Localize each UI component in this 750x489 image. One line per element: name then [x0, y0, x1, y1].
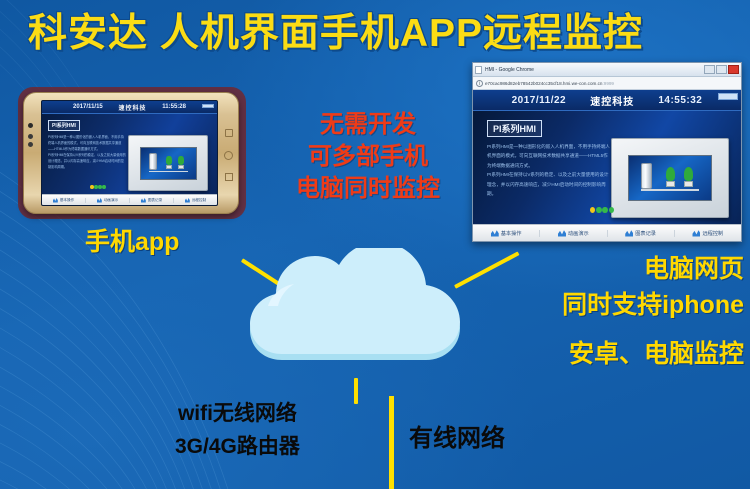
maximize-button-icon[interactable]: [716, 65, 727, 74]
signal-icon: [692, 230, 700, 237]
wired-network-label: 有线网络: [409, 418, 505, 453]
hmi-paragraph-2: PI系列HMI在保持以V系列的稳定、以及之前大量使用的设计理念，并以闪存高速响应…: [487, 170, 612, 198]
hmi-status-dots: [90, 185, 106, 189]
nav-item-chart-record[interactable]: 图表记录: [608, 230, 675, 237]
computer-caption-block: 电脑网页 同时支持iphone 安卓、电脑监控: [562, 252, 744, 373]
plant-icon: [666, 167, 675, 181]
hmi-panel-title: PI系列HMI: [48, 120, 80, 131]
status-dot: [102, 185, 106, 189]
browser-address-bar[interactable]: i e70cac986d82eb78542b024cc35cf18.hmi.we…: [473, 77, 741, 90]
nav-label: 图表记录: [148, 198, 162, 203]
status-dot: [90, 185, 94, 189]
poster-title: 科安达 人机界面手机APP远程监控: [28, 14, 643, 55]
highlight-line-2: 可多部手机: [296, 141, 440, 173]
computer-caption-line-1: 电脑网页: [562, 252, 744, 288]
phone-screen: 2017/11/15 速控科技 11:55:28 PI系列HMI PI系列HMI…: [41, 100, 218, 206]
status-dot: [590, 207, 595, 213]
hmi-time: 11:55:28: [162, 104, 186, 110]
tank-icon: [149, 153, 157, 170]
hmi-status-dots: [590, 207, 614, 213]
nav-item-basic-operation[interactable]: 基本操作: [473, 230, 540, 237]
browser-url-text: e70cac986d82eb78542b024cc35cf18.hmi.we-c…: [485, 81, 614, 86]
url-port: :9999: [602, 81, 614, 86]
nav-item-remote-control[interactable]: 远程控制: [174, 198, 217, 203]
plant-pot-icon: [666, 181, 675, 188]
tank-icon: [641, 163, 652, 188]
browser-window-title: HMI - Google Chrome: [485, 67, 534, 73]
window-controls: [704, 65, 739, 74]
hmi-date: 2017/11/22: [512, 95, 567, 106]
nav-label: 图表记录: [635, 230, 656, 237]
plant-icon: [178, 156, 184, 165]
phone-home-button-icon[interactable]: [224, 151, 233, 160]
site-info-icon[interactable]: i: [476, 80, 483, 87]
hmi-bottom-nav: 基本操作 动画演示 图表记录 远程控制: [42, 194, 217, 205]
plant-icon: [166, 156, 172, 165]
status-dot: [596, 207, 601, 213]
hmi-logo-icon: [718, 93, 738, 100]
hmi-panel-title: PI系列HMI: [487, 120, 542, 137]
highlight-line-3: 电脑同时监控: [296, 173, 440, 205]
hmi-date: 2017/11/15: [73, 104, 103, 110]
phone-side-sensor-icon: [28, 123, 33, 128]
browser-window: HMI - Google Chrome i e70cac986d82eb7854…: [472, 62, 742, 242]
hmi-paragraph-2: PI系列HMI在保持以V系列的稳定、以及之前大量使用的设计理念，并以闪存高速响应…: [48, 152, 126, 170]
browser-viewport: 2017/11/22 速控科技 14:55:32 PI系列HMI PI系列HMI…: [473, 90, 741, 241]
nav-label: 远程控制: [192, 198, 206, 203]
page-favicon-icon: [475, 66, 482, 74]
hmi-brand: 速控科技: [119, 103, 147, 112]
wave-icon: [491, 230, 499, 237]
nav-label: 基本操作: [60, 198, 74, 203]
cloud-network: [248, 248, 466, 374]
highlight-text-block: 无需开发 可多部手机 电脑同时监控: [296, 109, 440, 205]
pipe-icon: [641, 189, 700, 191]
plant-pot-icon: [684, 181, 693, 188]
hmi-device-screen: [628, 155, 712, 201]
chart-icon: [625, 230, 633, 237]
nav-item-remote-control[interactable]: 远程控制: [675, 230, 741, 237]
hmi-time: 14:55:32: [658, 95, 702, 106]
hmi-device-screen: [140, 147, 197, 180]
status-dot: [609, 207, 614, 213]
status-dot: [602, 207, 607, 213]
wireless-network-label: wifi无线网络 3G/4G路由器: [175, 398, 300, 463]
hmi-header-bar: 2017/11/22 速控科技 14:55:32: [473, 90, 741, 111]
nav-label: 远程控制: [702, 230, 723, 237]
hand-icon: [558, 230, 566, 237]
phone-mockup: 2017/11/15 速控科技 11:55:28 PI系列HMI PI系列HMI…: [23, 92, 239, 214]
hmi-device-photo: [611, 138, 729, 218]
wireless-line-2: 3G/4G路由器: [175, 431, 300, 464]
phone-caption: 手机app: [85, 222, 179, 258]
plant-icon: [684, 167, 693, 181]
nav-label: 动画演示: [104, 198, 118, 203]
nav-label: 动画演示: [568, 230, 589, 237]
cloud-body: [250, 248, 460, 354]
pipe-icon: [149, 171, 188, 172]
browser-title-bar[interactable]: HMI - Google Chrome: [473, 63, 741, 77]
hmi-brand: 速控科技: [590, 93, 634, 108]
highlight-line-1: 无需开发: [296, 109, 440, 141]
nav-item-animation-demo[interactable]: 动画演示: [540, 230, 607, 237]
wave-icon: [53, 198, 58, 203]
hmi-header-bar: 2017/11/15 速控科技 11:55:28: [42, 101, 217, 114]
hmi-paragraph-1: PI系列HMI是一种以图形化的嵌入人机界面，不用手持终端人机界面的模式，可向互联…: [48, 134, 126, 152]
nav-label: 基本操作: [501, 230, 522, 237]
computer-caption-line-2: 同时支持iphone: [562, 288, 744, 324]
computer-caption-line-3: 安卓、电脑监控: [562, 337, 744, 373]
status-dot: [98, 185, 102, 189]
plant-pot-icon: [166, 165, 172, 169]
plant-pot-icon: [178, 165, 184, 169]
phone-back-button-icon[interactable]: [225, 173, 233, 181]
nav-item-basic-operation[interactable]: 基本操作: [42, 198, 86, 203]
phone-recents-button-icon[interactable]: [225, 129, 233, 137]
connector-line-cloud-to-network: [354, 378, 358, 404]
hmi-bottom-nav: 基本操作 动画演示 图表记录 远程控制: [473, 224, 741, 241]
minimize-button-icon[interactable]: [704, 65, 715, 74]
url-host: e70cac986d82eb78542b024cc35cf18.hmi.we-c…: [485, 81, 602, 86]
status-dot: [94, 185, 98, 189]
hmi-logo-icon: [202, 104, 214, 108]
poster-canvas: 科安达 人机界面手机APP远程监控 2017/11/15 速控科技 11:55:…: [0, 0, 750, 489]
hand-icon: [97, 198, 102, 203]
hmi-device-photo: [128, 135, 208, 191]
hmi-paragraph-1: PI系列HMI是一种以图形化的嵌入人机界面，不用手持终端人机界面的模式，可向互联…: [487, 142, 612, 170]
close-button-icon[interactable]: [728, 65, 739, 74]
wireless-line-1: wifi无线网络: [175, 398, 300, 431]
nav-item-animation-demo[interactable]: 动画演示: [86, 198, 130, 203]
nav-item-chart-record[interactable]: 图表记录: [130, 198, 174, 203]
network-divider: [389, 396, 394, 489]
signal-icon: [185, 198, 190, 203]
chart-icon: [141, 198, 146, 203]
